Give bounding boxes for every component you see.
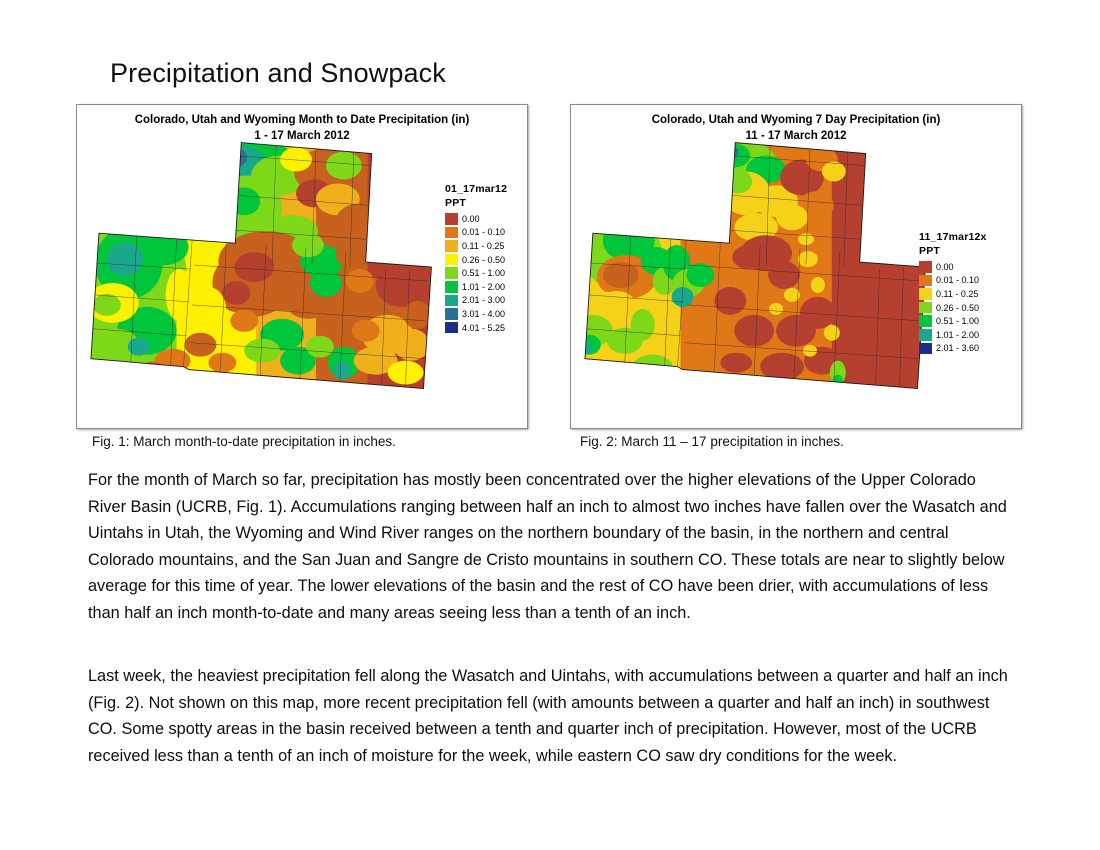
legend-entry-label: 1.01 - 2.00 [936, 330, 979, 340]
map-1-legend: 01_17mar12 PPT 0.000.01 - 0.100.11 - 0.2… [445, 183, 507, 334]
legend-entry: 0.01 - 0.10 [919, 274, 987, 288]
legend-entry: 4.01 - 5.25 [445, 321, 507, 335]
legend-1-entries: 0.000.01 - 0.100.11 - 0.250.26 - 0.500.5… [445, 212, 507, 334]
legend-entry: 0.51 - 1.00 [445, 266, 507, 280]
legend-entry: 0.26 - 0.50 [919, 301, 987, 315]
legend-entry: 1.01 - 2.00 [445, 280, 507, 294]
legend-color-swatch [919, 343, 932, 355]
legend-entry-label: 0.51 - 1.00 [462, 268, 505, 278]
map-2-legend: 11_17mar12x PPT 0.000.01 - 0.100.11 - 0.… [919, 231, 987, 355]
map-2-title-line1: Colorado, Utah and Wyoming 7 Day Precipi… [652, 114, 941, 126]
legend-entry-label: 0.11 - 0.25 [936, 289, 978, 299]
legend-entry: 0.11 - 0.25 [445, 239, 507, 253]
legend-color-swatch [445, 322, 458, 334]
legend-entry: 0.00 [445, 212, 507, 226]
legend-entry-label: 0.26 - 0.50 [936, 303, 979, 313]
figure-2-caption: Fig. 2: March 11 – 17 precipitation in i… [580, 434, 844, 449]
legend-entry-label: 2.01 - 3.60 [936, 343, 979, 353]
legend-entry-label: 0.01 - 0.10 [462, 227, 505, 237]
legend-2-title: 11_17mar12x [919, 231, 987, 243]
legend-entry: 1.01 - 2.00 [919, 328, 987, 342]
legend-2-entries: 0.000.01 - 0.100.11 - 0.250.26 - 0.500.5… [919, 260, 987, 355]
legend-color-swatch [919, 315, 932, 327]
body-paragraph-1: For the month of March so far, precipita… [88, 467, 1018, 626]
legend-color-swatch [445, 281, 458, 293]
legend-entry-label: 0.00 [936, 262, 954, 272]
legend-entry: 3.01 - 4.00 [445, 307, 507, 321]
legend-entry-label: 0.00 [462, 214, 480, 224]
page-title: Precipitation and Snowpack [110, 58, 446, 89]
legend-entry-label: 0.51 - 1.00 [936, 316, 979, 326]
legend-color-swatch [919, 302, 932, 314]
legend-color-swatch [445, 213, 458, 225]
legend-entry-label: 0.01 - 0.10 [936, 275, 979, 285]
legend-entry-label: 1.01 - 2.00 [462, 282, 505, 292]
legend-color-swatch [919, 275, 932, 287]
legend-color-swatch [919, 288, 932, 300]
legend-entry-label: 2.01 - 3.00 [462, 295, 505, 305]
legend-color-swatch [445, 227, 458, 239]
legend-2-subtitle: PPT [919, 245, 987, 257]
legend-entry: 2.01 - 3.60 [919, 342, 987, 356]
legend-1-subtitle: PPT [445, 197, 507, 209]
figure-panel-2: Colorado, Utah and Wyoming 7 Day Precipi… [570, 104, 1022, 429]
legend-color-swatch [919, 261, 932, 273]
legend-entry: 0.11 - 0.25 [919, 287, 987, 301]
legend-entry-label: 4.01 - 5.25 [462, 323, 505, 333]
legend-entry: 0.01 - 0.10 [445, 226, 507, 240]
legend-entry: 2.01 - 3.00 [445, 294, 507, 308]
legend-color-swatch [445, 308, 458, 320]
legend-color-swatch [919, 329, 932, 341]
legend-1-title: 01_17mar12 [445, 183, 507, 195]
legend-entry: 0.26 - 0.50 [445, 253, 507, 267]
figure-1-caption: Fig. 1: March month-to-date precipitatio… [92, 434, 396, 449]
legend-entry-label: 0.11 - 0.25 [462, 241, 504, 251]
figure-panel-1: Colorado, Utah and Wyoming Month to Date… [76, 104, 528, 429]
legend-entry: 0.51 - 1.00 [919, 314, 987, 328]
slide-root: Precipitation and Snowpack Colorado, Uta… [0, 0, 1100, 850]
legend-entry-label: 0.26 - 0.50 [462, 255, 505, 265]
legend-color-swatch [445, 267, 458, 279]
body-paragraph-2: Last week, the heaviest precipitation fe… [88, 663, 1018, 769]
legend-entry: 0.00 [919, 260, 987, 274]
legend-color-swatch [445, 254, 458, 266]
legend-color-swatch [445, 240, 458, 252]
legend-entry-label: 3.01 - 4.00 [462, 309, 505, 319]
map-1-title-line1: Colorado, Utah and Wyoming Month to Date… [135, 114, 470, 126]
legend-color-swatch [445, 295, 458, 307]
